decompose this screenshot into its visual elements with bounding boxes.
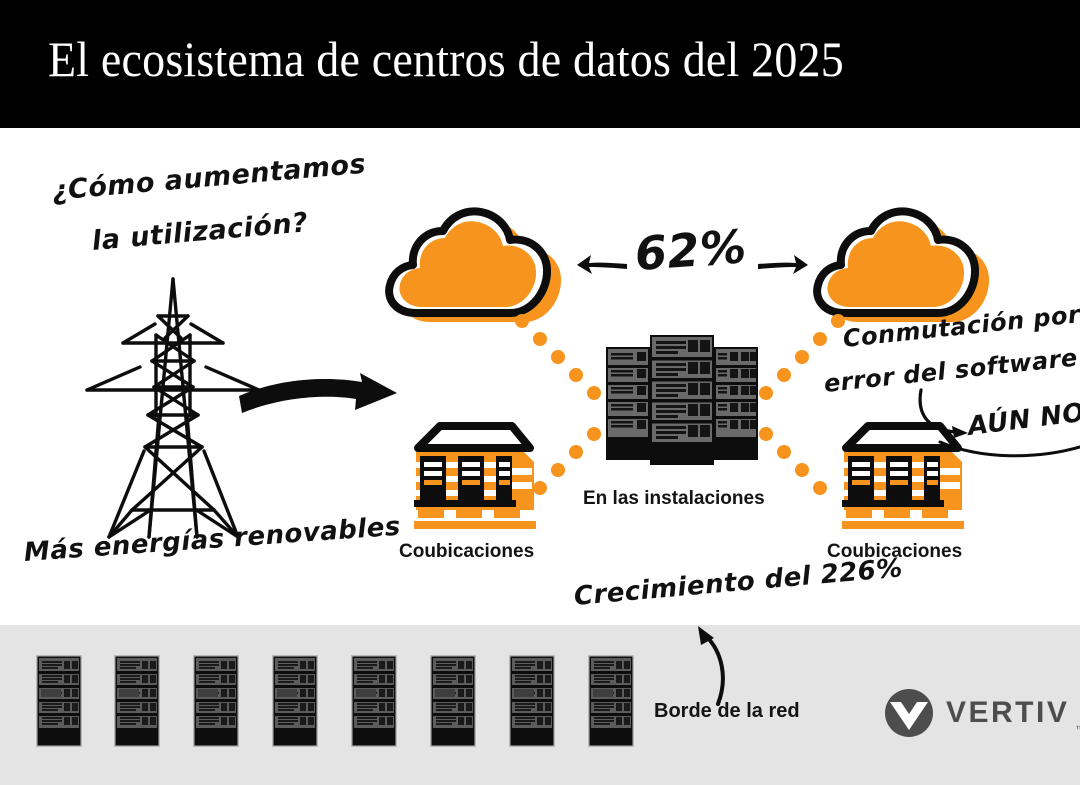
- edge-server-rack-row: [36, 655, 636, 747]
- curved-arrow-icon-growth: [686, 622, 732, 706]
- edge-rack-item: [193, 655, 239, 747]
- label-colocation-left: Coubicaciones: [399, 541, 534, 563]
- infographic-canvas: El ecosistema de centros de datos del 20…: [0, 0, 1080, 785]
- edge-rack-item: [36, 655, 82, 747]
- vertiv-logo: VERTIV ™: [884, 688, 1080, 738]
- edge-rack-item: [509, 655, 555, 747]
- dotted-connectors: [0, 0, 1080, 625]
- label-on-premise: En las instalaciones: [583, 488, 765, 510]
- label-network-edge: Borde de la red: [654, 700, 800, 723]
- vertiv-trademark: ™: [1075, 724, 1080, 734]
- vertiv-wordmark: VERTIV: [946, 696, 1069, 730]
- colocation-building-icon-left: [398, 418, 542, 530]
- edge-rack-item: [588, 655, 634, 747]
- edge-rack-item: [272, 655, 318, 747]
- vertiv-logo-icon: [884, 688, 934, 738]
- underline-not-yet: [938, 438, 1080, 464]
- edge-rack-item: [351, 655, 397, 747]
- edge-rack-item: [430, 655, 476, 747]
- edge-rack-item: [114, 655, 160, 747]
